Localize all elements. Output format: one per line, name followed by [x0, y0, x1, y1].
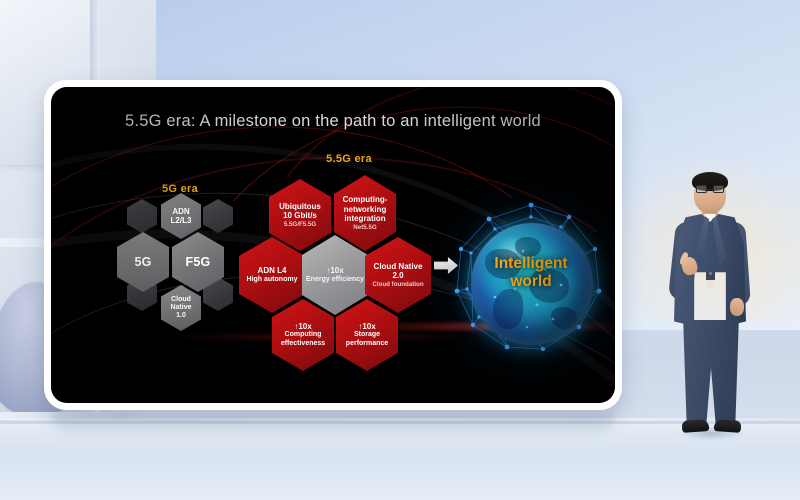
presentation-screen-frame: 5.5G era: A milestone on the path to an … — [44, 80, 622, 410]
glasses-icon — [696, 185, 724, 193]
slide-canvas: 5.5G era: A milestone on the path to an … — [51, 87, 615, 403]
presenter-trousers — [682, 320, 740, 424]
slide-vignette — [51, 87, 615, 403]
presenter-figure — [668, 172, 752, 450]
screen-floor-reflection — [52, 414, 614, 436]
presenter-resting-hand — [730, 298, 744, 316]
presenter-shoe-left — [682, 419, 710, 433]
presenter-shoe-right — [714, 419, 742, 433]
